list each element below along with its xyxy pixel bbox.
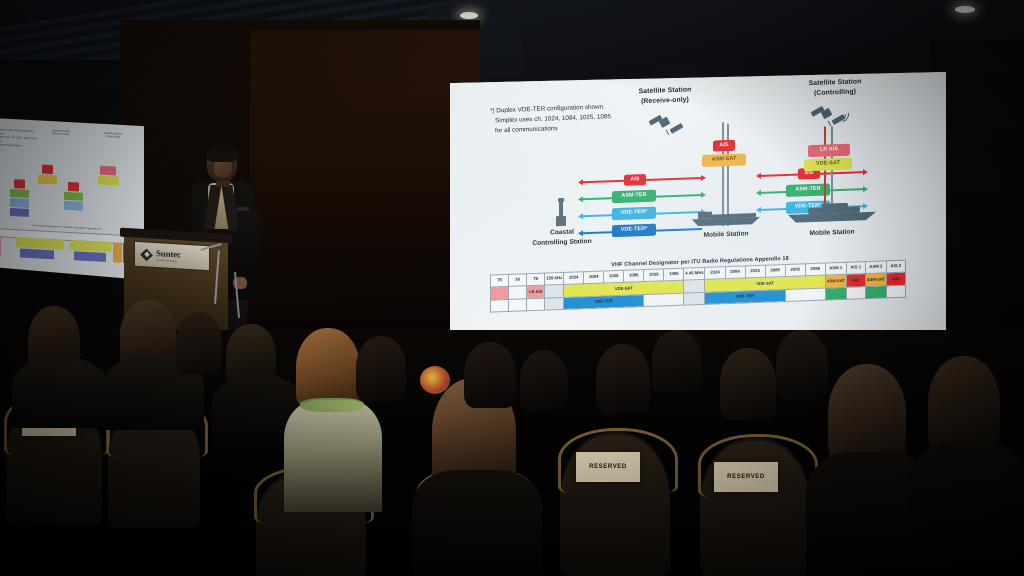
table-cell-ais-2: AIS bbox=[886, 272, 905, 286]
table-cell bbox=[527, 298, 545, 311]
secondary-tag-vdeter-3 bbox=[64, 201, 83, 211]
table-header-cell: 150 kHz bbox=[545, 272, 564, 285]
table-cell-asm-sat-2: ASM-SAT bbox=[865, 273, 886, 287]
secondary-sat-ctrl-heading: Satellite Station(Controlling) bbox=[96, 131, 130, 139]
tag-vdeter-duplex-left: VDE-TER* bbox=[612, 224, 656, 238]
table-header-cell: ASM 1 bbox=[825, 262, 846, 275]
label-mobile-station-left: Mobile Station bbox=[676, 228, 776, 241]
audience-member bbox=[464, 342, 516, 408]
table-cell bbox=[545, 284, 564, 298]
table-cell bbox=[684, 279, 705, 293]
secondary-slide: *) Duplex VDE-TER configuration shown.Si… bbox=[0, 118, 144, 288]
link-row-asmter-left: ASM-TER bbox=[578, 192, 706, 203]
table-cell bbox=[509, 286, 527, 300]
heading-satellite-controlling: Satellite Station (Controlling) bbox=[780, 76, 890, 100]
table-cell-asm-sat-1: ASM-SAT bbox=[825, 274, 846, 288]
ceiling-light-4 bbox=[955, 6, 975, 13]
table-cell bbox=[509, 299, 527, 312]
audience-member bbox=[720, 348, 776, 420]
table-header-cell: 16 bbox=[509, 274, 527, 287]
table-header-cell: 2086 bbox=[805, 263, 825, 276]
label-mobile-station-right: Mobile Station bbox=[782, 227, 882, 240]
table-header-cell: 76 bbox=[527, 273, 545, 286]
tag-ais-left: AIS bbox=[624, 174, 646, 186]
table-cell bbox=[644, 293, 684, 306]
floral-hair-clip bbox=[420, 366, 450, 394]
secondary-table-blue-1 bbox=[20, 248, 54, 259]
table-cell bbox=[491, 286, 509, 300]
coastal-tower-icon bbox=[554, 198, 568, 227]
table-cell bbox=[545, 297, 564, 310]
table-header-cell: 1026 bbox=[644, 269, 664, 282]
reserved-sign: RESERVED bbox=[576, 452, 640, 482]
heading-satellite-receive-only: Satellite Station (Receive-only) bbox=[610, 84, 720, 108]
tag-vde-sat-right: VDE-SAT bbox=[804, 158, 852, 172]
table-header-cell: AIS 2 bbox=[886, 260, 905, 273]
audience-member bbox=[776, 330, 828, 400]
audience-member bbox=[520, 350, 568, 412]
tag-vdeter-left: VDE-TER* bbox=[612, 207, 656, 221]
ship-icon-mobile-right bbox=[786, 197, 878, 224]
audience-member-shoulder bbox=[412, 470, 542, 576]
table-header-cell: 1025 bbox=[604, 270, 624, 283]
audience-member-shirt bbox=[284, 400, 382, 512]
secondary-table-blue-2 bbox=[74, 251, 106, 262]
coastal-label-line2: Controlling Station bbox=[526, 237, 598, 249]
secondary-projection-screen: *) Duplex VDE-TER configuration shown.Si… bbox=[0, 118, 144, 280]
table-cell-vde-ter-1: VDE-TER bbox=[564, 295, 644, 310]
audience-member bbox=[12, 358, 108, 428]
wall-wood-panel bbox=[250, 30, 480, 330]
table-header-cell: 4.45 MHz bbox=[684, 267, 705, 280]
link-row-asmter-right: ASM-TER bbox=[756, 186, 868, 196]
secondary-tag-vdeter-2 bbox=[10, 208, 29, 217]
table-header-cell: 1024 bbox=[564, 272, 584, 285]
table-header-cell: 1086 bbox=[664, 268, 684, 281]
audience-member bbox=[356, 336, 406, 402]
audience-member bbox=[652, 330, 702, 394]
table-header-cell: ASM 2 bbox=[865, 261, 886, 274]
venue-brand-sub: SINGAPORE bbox=[156, 258, 181, 264]
tag-lr-ais-right: LR AIS bbox=[808, 144, 850, 158]
link-row-ais-left: AIS bbox=[578, 175, 706, 186]
link-row-vdeter-left: VDE-TER* bbox=[578, 209, 706, 220]
podium-branding-plate: Suntec SINGAPORE bbox=[134, 241, 210, 272]
table-cell-asm-ter-1 bbox=[825, 287, 846, 300]
table-cell-vde-ter-2: VDE-TER bbox=[705, 290, 785, 305]
reserved-sign: RESERVED bbox=[714, 462, 778, 492]
table-cell bbox=[846, 287, 865, 300]
table-cell-asm-ter-2 bbox=[865, 286, 886, 299]
tag-asmter-left: ASM-TER bbox=[612, 190, 656, 204]
table-header-cell: 1084 bbox=[584, 271, 604, 284]
table-header-cell: AIS 1 bbox=[846, 262, 865, 275]
secondary-slide-footnote: *) Duplex VDE-TER configuration shown.Si… bbox=[0, 128, 40, 144]
table-header-cell: 2085 bbox=[765, 265, 785, 278]
secondary-tag-asmter-1 bbox=[10, 189, 29, 198]
audience-member bbox=[176, 312, 222, 374]
secondary-tag-ais-2 bbox=[42, 165, 53, 175]
audience-member-foreground bbox=[828, 364, 906, 466]
secondary-tag-asmsat-1 bbox=[38, 174, 57, 184]
secondary-tag-vdesat bbox=[98, 176, 119, 186]
table-header-cell: 75 bbox=[491, 274, 509, 287]
ceiling-light-1 bbox=[460, 12, 478, 19]
secondary-tag-ais-3 bbox=[68, 182, 79, 192]
secondary-tag-asmter-2 bbox=[64, 192, 83, 201]
suntec-logo-icon bbox=[140, 248, 153, 262]
secondary-table-pink bbox=[0, 236, 1, 256]
ship-icon-mobile-left bbox=[690, 203, 762, 228]
main-projection-screen: *) Duplex VDE-TER configuration shown. S… bbox=[450, 72, 946, 364]
tag-ais-sat-uplink-left: AIS bbox=[713, 140, 735, 152]
table-header-cell: 2026 bbox=[785, 264, 805, 277]
audience-member-foreground-body-2 bbox=[908, 442, 1024, 576]
presenter-hair bbox=[206, 145, 238, 162]
conference-room-photo: *) Duplex VDE-TER configuration shown.Si… bbox=[0, 0, 1024, 576]
table-cell-ais-1: AIS bbox=[846, 274, 865, 288]
table-header-cell: 1085 bbox=[624, 270, 644, 283]
presentation-slide: *) Duplex VDE-TER configuration shown. S… bbox=[450, 54, 946, 364]
secondary-tag-lrais bbox=[100, 166, 116, 176]
tag-asmsat-left: ASM-SAT bbox=[702, 153, 746, 167]
table-header-cell: 2025 bbox=[745, 265, 765, 278]
table-header-cell: 2084 bbox=[725, 266, 745, 279]
table-header-cell: 2024 bbox=[705, 267, 725, 280]
table-cell bbox=[684, 292, 705, 305]
audience-member-collar bbox=[300, 398, 364, 412]
table-cell: LR AIS bbox=[527, 285, 545, 299]
table-cell bbox=[491, 299, 509, 312]
secondary-sat-recv-heading: Satellite Station(Receive-only) bbox=[44, 129, 78, 137]
satellite-icon-receive-only bbox=[646, 109, 686, 140]
audience-member-foreground bbox=[928, 356, 1000, 454]
table-cell bbox=[785, 288, 825, 301]
secondary-tag-ais-1 bbox=[14, 179, 25, 189]
secondary-table-orange bbox=[113, 242, 122, 262]
table-cell bbox=[886, 285, 905, 298]
audience-member bbox=[596, 344, 650, 414]
secondary-tag-vdeter-1 bbox=[10, 198, 29, 208]
